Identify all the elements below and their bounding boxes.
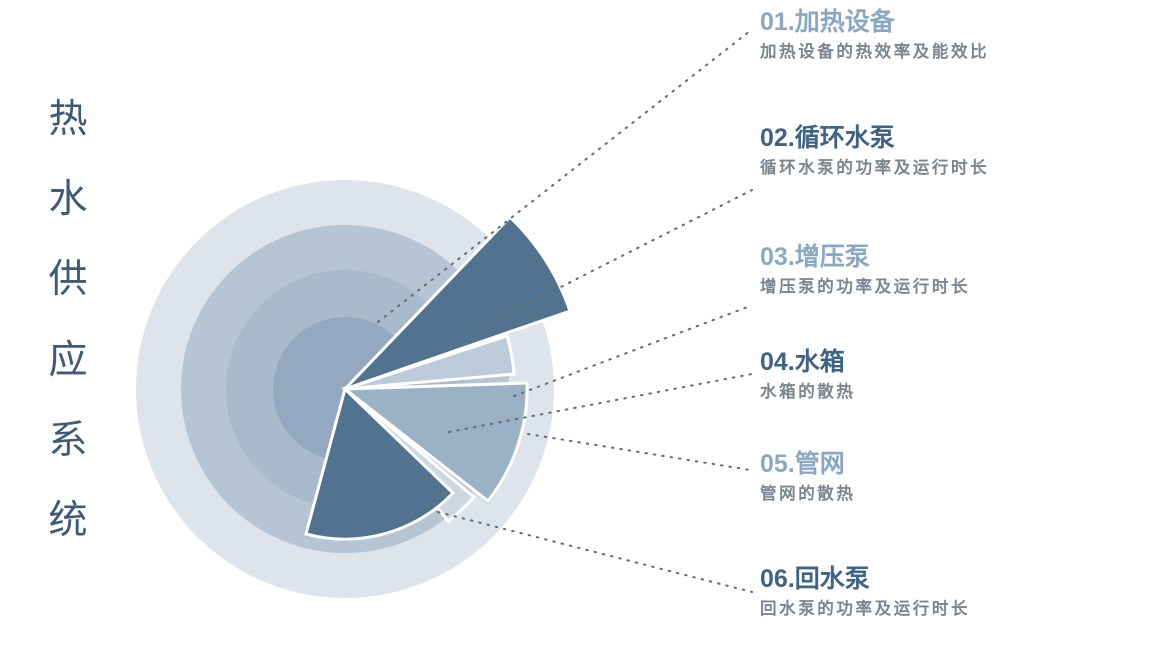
radial-pie-chart [0, 0, 1169, 656]
label-title-02: 02.循环水泵 [760, 124, 989, 152]
label-desc-04: 水箱的散热 [760, 383, 856, 402]
label-title-04: 04.水箱 [760, 348, 856, 376]
label-block-01[interactable]: 01.加热设备 加热设备的热效率及能效比 [760, 8, 989, 62]
infographic-page: 热 水 供 应 系 统 [0, 0, 1169, 656]
label-block-03[interactable]: 03.增压泵 增压泵的功率及运行时长 [760, 243, 970, 297]
label-title-03: 03.增压泵 [760, 243, 970, 271]
label-desc-03: 增压泵的功率及运行时长 [760, 278, 970, 297]
label-block-05[interactable]: 05.管网 管网的散热 [760, 450, 856, 504]
label-desc-01: 加热设备的热效率及能效比 [760, 43, 989, 62]
label-desc-05: 管网的散热 [760, 485, 856, 504]
label-title-06: 06.回水泵 [760, 565, 970, 593]
label-block-04[interactable]: 04.水箱 水箱的散热 [760, 348, 856, 402]
label-block-06[interactable]: 06.回水泵 回水泵的功率及运行时长 [760, 565, 970, 619]
label-title-01: 01.加热设备 [760, 8, 989, 36]
label-block-02[interactable]: 02.循环水泵 循环水泵的功率及运行时长 [760, 124, 989, 178]
label-title-05: 05.管网 [760, 450, 856, 478]
leader-line-05 [528, 434, 750, 470]
label-desc-06: 回水泵的功率及运行时长 [760, 600, 970, 619]
label-desc-02: 循环水泵的功率及运行时长 [760, 159, 989, 178]
